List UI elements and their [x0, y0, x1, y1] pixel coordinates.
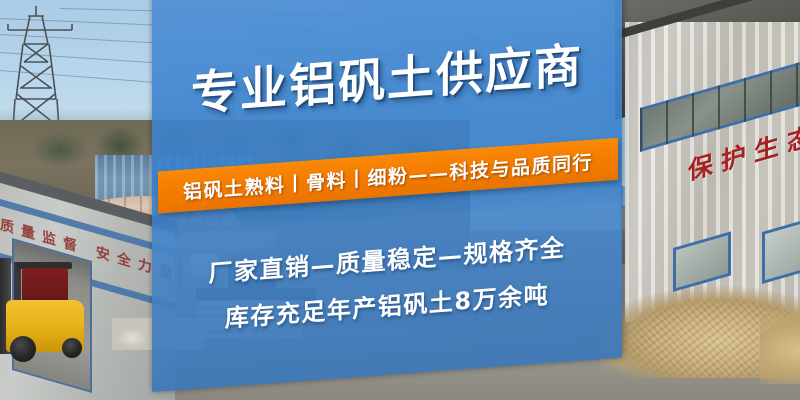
bauxite-ore-pile-secondary	[760, 300, 800, 384]
material-bags	[112, 318, 204, 350]
pallet-stack	[196, 300, 304, 340]
background-photograph: 质量监督 安全力量 保护生态	[0, 0, 800, 400]
air-conditioner-unit	[190, 254, 220, 278]
promotional-banner: 质量监督 安全力量 保护生态	[0, 0, 800, 400]
forklift-wheel	[62, 338, 82, 358]
forklift-wheel	[10, 336, 36, 362]
